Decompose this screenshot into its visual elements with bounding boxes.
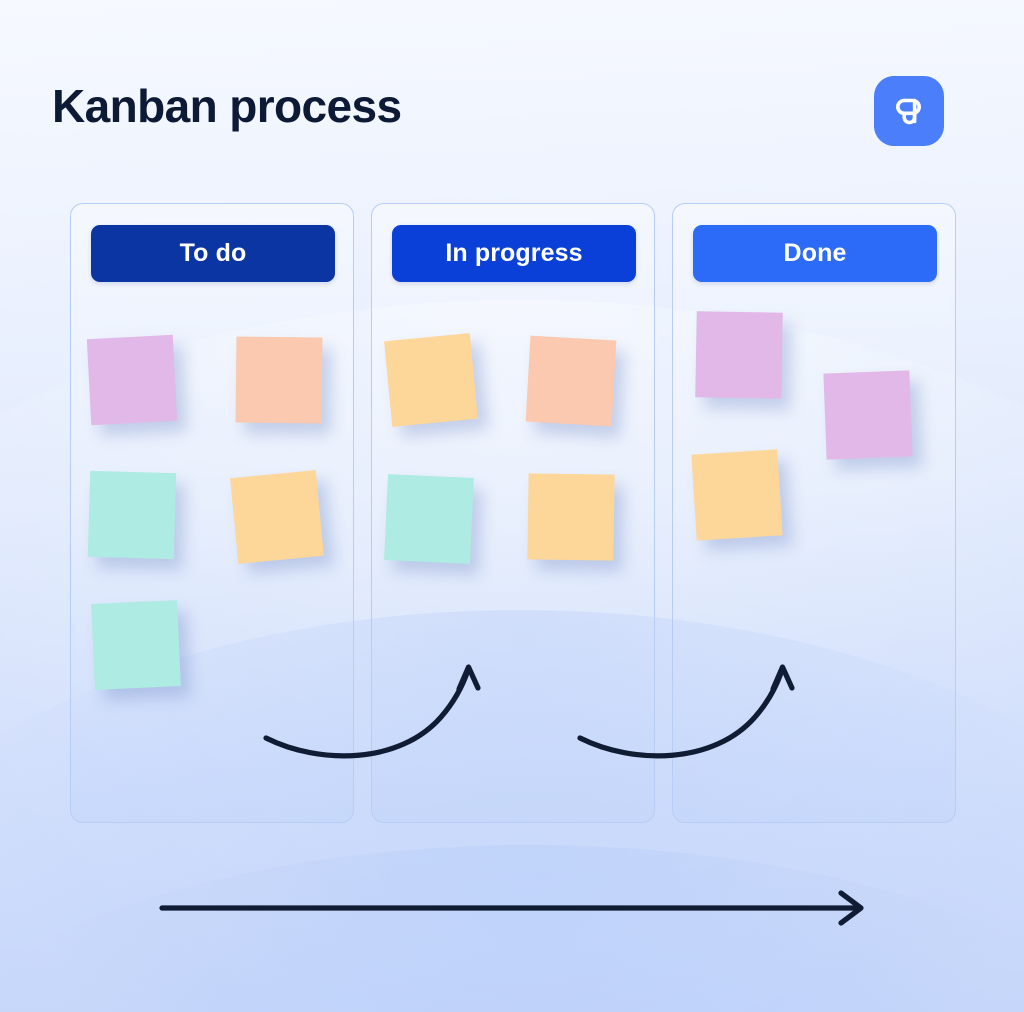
kanban-column-to-do[interactable]: To do <box>70 203 354 823</box>
kanban-process-infographic: Kanban process To do In progress Done <box>0 0 1024 1012</box>
kanban-column-in-progress[interactable]: In progress <box>371 203 655 823</box>
sticky-note[interactable] <box>384 333 478 427</box>
column-header-in-progress[interactable]: In progress <box>392 225 636 282</box>
sticky-note[interactable] <box>87 335 177 425</box>
sticky-note[interactable] <box>526 336 617 427</box>
background-arc-3 <box>0 845 1024 1012</box>
sticky-note[interactable] <box>91 600 181 690</box>
sticky-note[interactable] <box>230 470 324 564</box>
sticky-note[interactable] <box>88 471 176 559</box>
kanban-board: To do In progress Done <box>70 203 956 823</box>
brand-logo <box>874 76 944 146</box>
sticky-note[interactable] <box>823 370 912 459</box>
sticky-note[interactable] <box>695 311 782 398</box>
brand-monogram-icon <box>889 91 929 131</box>
column-header-done[interactable]: Done <box>693 225 937 282</box>
sticky-note[interactable] <box>691 449 782 540</box>
sticky-note[interactable] <box>384 474 474 564</box>
page-title: Kanban process <box>52 79 402 133</box>
sticky-note[interactable] <box>527 473 614 560</box>
kanban-column-done[interactable]: Done <box>672 203 956 823</box>
column-header-to-do[interactable]: To do <box>91 225 335 282</box>
timeline-arrow <box>162 893 861 923</box>
sticky-note[interactable] <box>236 337 323 424</box>
